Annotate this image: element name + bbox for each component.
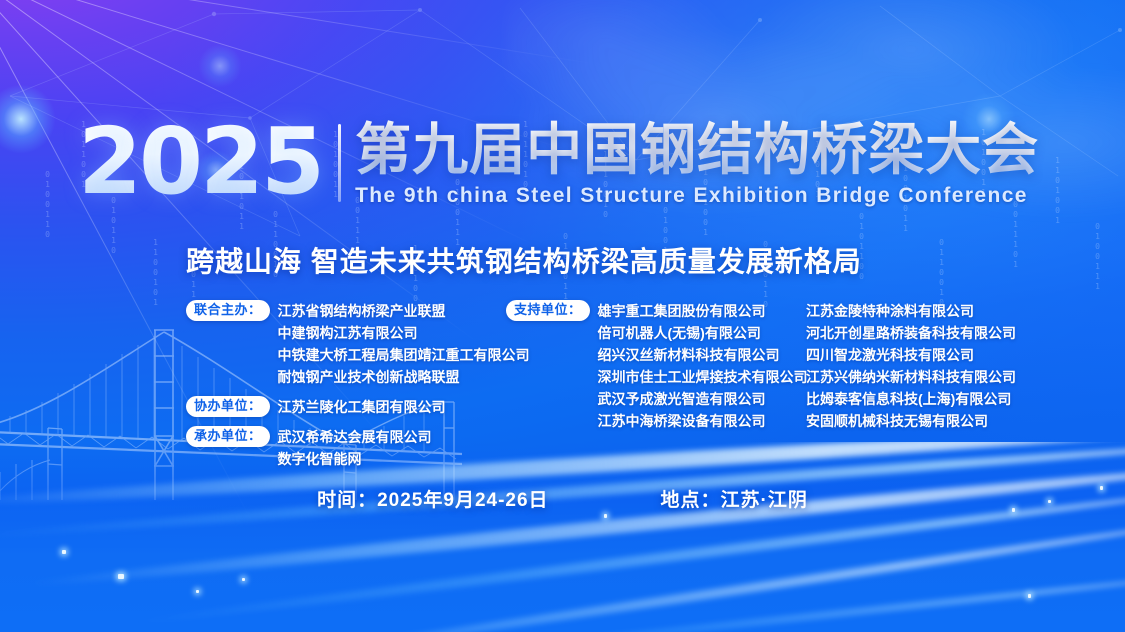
event-location: 地点：江苏·江阴 xyxy=(661,485,808,512)
organizer-column-right: 江苏金陵特种涂料有限公司 河北开创星路桥装备科技有限公司 四川智龙激光科技有限公… xyxy=(806,300,1046,478)
title-block: 2025 第九届中国钢结构桥梁大会 The 9th china Steel St… xyxy=(78,118,1039,208)
list-item: 江苏兰陵化工集团有限公司 xyxy=(278,396,446,418)
co-host-names: 江苏省钢结构桥梁产业联盟 中建钢构江苏有限公司 中铁建大桥工程局集团靖江重工有限… xyxy=(278,300,530,388)
supporter-names-right: 江苏金陵特种涂料有限公司 河北开创星路桥装备科技有限公司 四川智龙激光科技有限公… xyxy=(806,300,1046,432)
title-divider xyxy=(338,124,341,202)
supporter-group: 支持单位： 雄宇重工集团股份有限公司 倍可机器人(无锡)有限公司 绍兴汉丝新材料… xyxy=(506,300,806,432)
undertaker-label: 承办单位： xyxy=(186,426,270,447)
event-time: 时间：2025年9月24-26日 xyxy=(317,485,548,512)
slogan: 跨越山海 智造未来共筑钢结构桥梁高质量发展新格局 xyxy=(186,240,862,280)
banner-content: 2025 第九届中国钢结构桥梁大会 The 9th china Steel St… xyxy=(0,0,1125,632)
list-item: 雄宇重工集团股份有限公司 xyxy=(598,300,808,322)
co-organizer-group: 协办单位： 江苏兰陵化工集团有限公司 xyxy=(186,396,506,418)
list-item: 江苏省钢结构桥梁产业联盟 xyxy=(278,300,530,322)
list-item: 倍可机器人(无锡)有限公司 xyxy=(598,322,808,344)
supporter-label: 支持单位： xyxy=(506,300,590,321)
page-title: 第九届中国钢结构桥梁大会 xyxy=(355,120,1039,180)
undertaker-names: 武汉希希达会展有限公司 数字化智能网 xyxy=(278,426,432,470)
list-item: 安固顺机械科技无锡有限公司 xyxy=(806,410,1046,432)
list-item: 江苏中海桥梁设备有限公司 xyxy=(598,410,808,432)
list-item: 江苏兴佛纳米新材料科技有限公司 xyxy=(806,366,1046,388)
list-item: 武汉予成激光智造有限公司 xyxy=(598,388,808,410)
list-item: 数字化智能网 xyxy=(278,448,432,470)
organizer-column-left: 联合主办： 江苏省钢结构桥梁产业联盟 中建钢构江苏有限公司 中铁建大桥工程局集团… xyxy=(186,300,506,478)
organizer-column-middle: 支持单位： 雄宇重工集团股份有限公司 倍可机器人(无锡)有限公司 绍兴汉丝新材料… xyxy=(506,300,806,478)
conference-banner: 0100110101100100101101100101010110010010… xyxy=(0,0,1125,632)
co-host-group: 联合主办： 江苏省钢结构桥梁产业联盟 中建钢构江苏有限公司 中铁建大桥工程局集团… xyxy=(186,300,506,388)
page-subtitle-english: The 9th china Steel Structure Exhibition… xyxy=(355,184,1039,208)
list-item: 耐蚀钢产业技术创新战略联盟 xyxy=(278,366,530,388)
list-item: 中铁建大桥工程局集团靖江重工有限公司 xyxy=(278,344,530,366)
supporter-names-middle: 雄宇重工集团股份有限公司 倍可机器人(无锡)有限公司 绍兴汉丝新材料科技有限公司… xyxy=(598,300,808,432)
list-item: 河北开创星路桥装备科技有限公司 xyxy=(806,322,1046,344)
co-organizer-label: 协办单位： xyxy=(186,396,270,417)
list-item: 武汉希希达会展有限公司 xyxy=(278,426,432,448)
footer-info: 时间：2025年9月24-26日 地点：江苏·江阴 xyxy=(0,485,1125,512)
undertaker-group: 承办单位： 武汉希希达会展有限公司 数字化智能网 xyxy=(186,426,506,470)
list-item: 四川智龙激光科技有限公司 xyxy=(806,344,1046,366)
co-host-label: 联合主办： xyxy=(186,300,270,321)
year-2025: 2025 xyxy=(78,118,322,205)
list-item: 江苏金陵特种涂料有限公司 xyxy=(806,300,1046,322)
organizer-section: 联合主办： 江苏省钢结构桥梁产业联盟 中建钢构江苏有限公司 中铁建大桥工程局集团… xyxy=(186,300,1046,478)
list-item: 中建钢构江苏有限公司 xyxy=(278,322,530,344)
co-organizer-names: 江苏兰陵化工集团有限公司 xyxy=(278,396,446,418)
list-item: 深圳市佳士工业焊接技术有限公司 xyxy=(598,366,808,388)
title-text-column: 第九届中国钢结构桥梁大会 The 9th china Steel Structu… xyxy=(355,118,1039,208)
list-item: 绍兴汉丝新材料科技有限公司 xyxy=(598,344,808,366)
list-item: 比姆泰客信息科技(上海)有限公司 xyxy=(806,388,1046,410)
